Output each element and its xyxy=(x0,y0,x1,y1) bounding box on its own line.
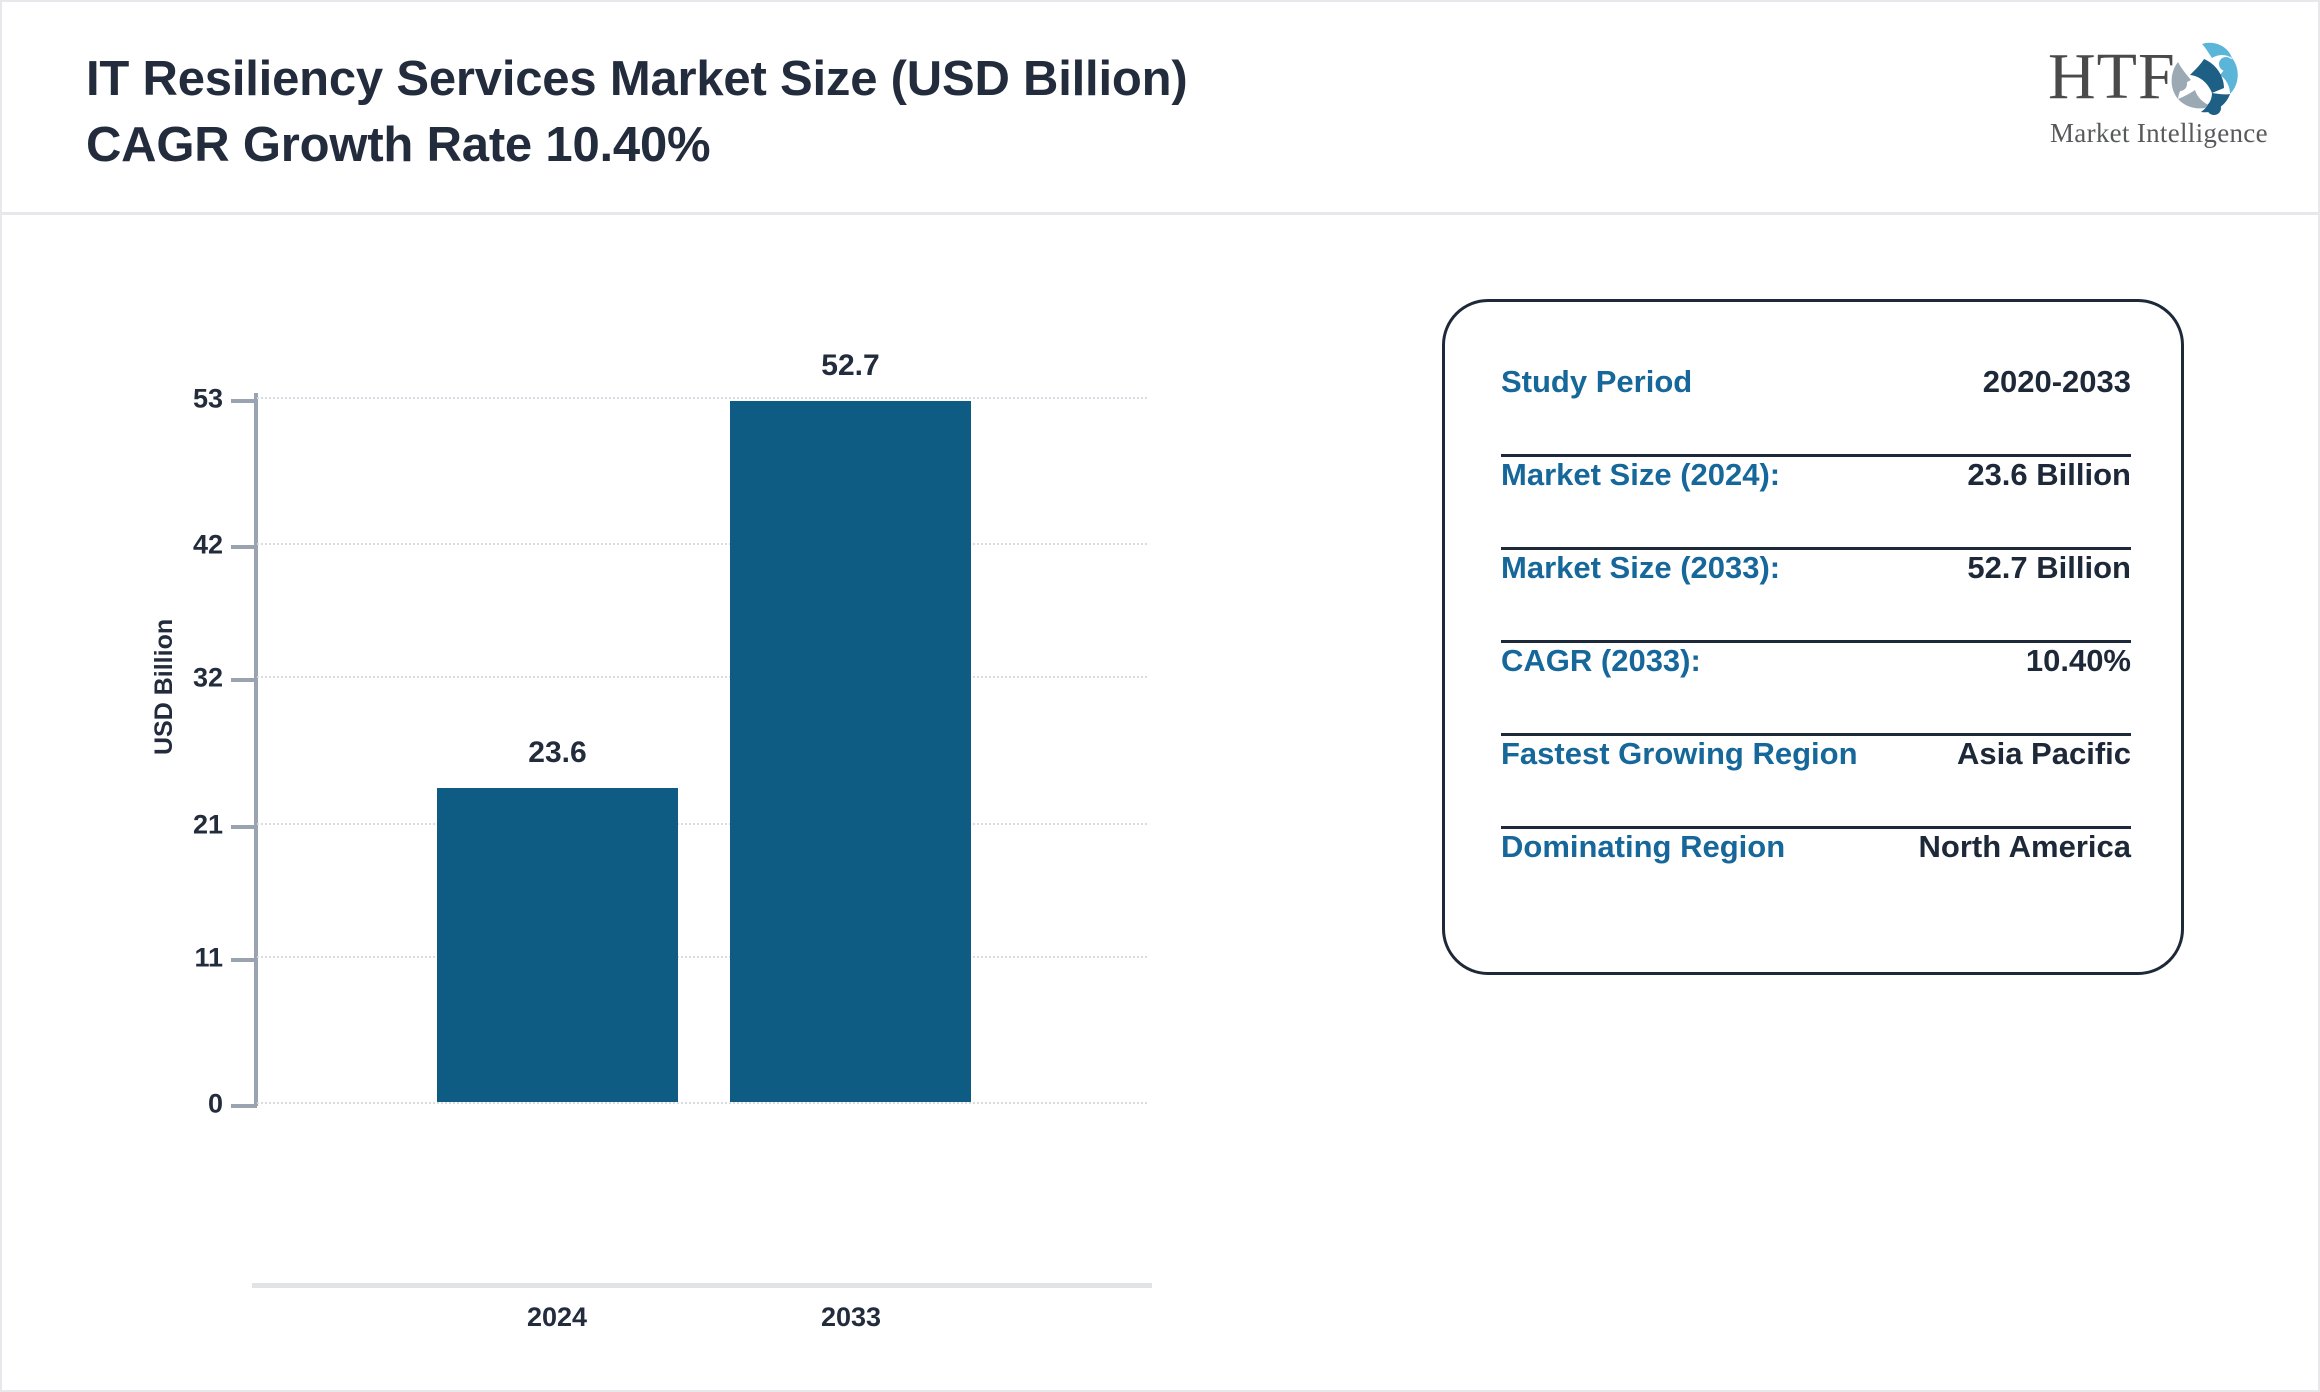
row-label-dominating-region: Dominating Region xyxy=(1501,829,1785,865)
tick-mark-32 xyxy=(231,678,257,682)
tick-mark-11 xyxy=(231,958,257,962)
y-axis-label: USD Billion xyxy=(150,619,179,755)
y-tick-label-11: 11 xyxy=(194,942,223,973)
bar-value-2033: 52.7 xyxy=(821,349,879,383)
page-title: IT Resiliency Services Market Size (USD … xyxy=(86,46,1686,178)
x-axis-baseline xyxy=(252,1283,1152,1288)
logo-swirl-icon xyxy=(2156,38,2244,120)
title-line-2: CAGR Growth Rate 10.40% xyxy=(86,112,1686,178)
gridline-21: 21 xyxy=(257,823,1147,825)
table-row: Study Period 2020-2033 xyxy=(1501,364,2131,457)
chart-page: IT Resiliency Services Market Size (USD … xyxy=(0,0,2320,1392)
y-tick-label-53: 53 xyxy=(193,384,223,415)
market-summary-panel: Study Period 2020-2033 Market Size (2024… xyxy=(1442,299,2184,975)
table-row: CAGR (2033): 10.40% xyxy=(1501,643,2131,736)
x-tick-label-2024: 2024 xyxy=(527,1302,587,1333)
bar-value-2024: 23.6 xyxy=(528,736,586,770)
y-tick-label-32: 32 xyxy=(193,663,223,694)
logo-top-row: HTF xyxy=(2048,38,2248,120)
bar-2033[interactable]: 52.7 xyxy=(730,401,971,1102)
row-label-study-period: Study Period xyxy=(1501,364,1692,400)
gridline-42: 42 xyxy=(257,543,1147,545)
y-tick-label-21: 21 xyxy=(193,809,223,840)
gridline-11: 11 xyxy=(257,956,1147,958)
page-header: IT Resiliency Services Market Size (USD … xyxy=(2,2,2318,215)
row-value-study-period: 2020-2033 xyxy=(1983,364,2131,400)
logo-tagline: Market Intelligence xyxy=(2050,118,2268,149)
row-value-market-size-2033: 52.7 Billion xyxy=(1967,550,2131,586)
row-value-market-size-2024: 23.6 Billion xyxy=(1967,457,2131,493)
table-row: Market Size (2033): 52.7 Billion xyxy=(1501,550,2131,643)
gridline-0: 0 xyxy=(257,1102,1147,1104)
tick-mark-42 xyxy=(231,545,257,549)
y-tick-label-0: 0 xyxy=(208,1089,223,1120)
plot-area: 53 42 32 21 11 0 xyxy=(257,397,1147,1102)
row-label-fastest-growing-region: Fastest Growing Region xyxy=(1501,736,1858,772)
row-label-cagr-2033: CAGR (2033): xyxy=(1501,643,1701,679)
x-tick-label-2033: 2033 xyxy=(821,1302,881,1333)
htf-logo: HTF Market Intelligence xyxy=(2048,38,2248,156)
row-label-market-size-2024: Market Size (2024): xyxy=(1501,457,1780,493)
table-row: Dominating Region North America xyxy=(1501,829,2131,922)
gridline-32: 32 xyxy=(257,676,1147,678)
table-row: Market Size (2024): 23.6 Billion xyxy=(1501,457,2131,550)
gridline-53: 53 xyxy=(257,397,1147,399)
title-line-1: IT Resiliency Services Market Size (USD … xyxy=(86,46,1686,112)
y-tick-label-42: 42 xyxy=(193,530,223,561)
tick-mark-53 xyxy=(231,399,257,403)
row-value-cagr-2033: 10.40% xyxy=(2026,643,2131,679)
table-row: Fastest Growing Region Asia Pacific xyxy=(1501,736,2131,829)
tick-mark-0 xyxy=(231,1104,257,1108)
row-value-dominating-region: North America xyxy=(1919,829,2131,865)
bar-2024[interactable]: 23.6 xyxy=(437,788,678,1102)
market-summary-table: Study Period 2020-2033 Market Size (2024… xyxy=(1501,364,2131,922)
row-label-market-size-2033: Market Size (2033): xyxy=(1501,550,1780,586)
row-value-fastest-growing-region: Asia Pacific xyxy=(1957,736,2131,772)
bar-chart: USD Billion 53 42 32 21 11 xyxy=(2,215,1422,1390)
tick-mark-21 xyxy=(231,825,257,829)
